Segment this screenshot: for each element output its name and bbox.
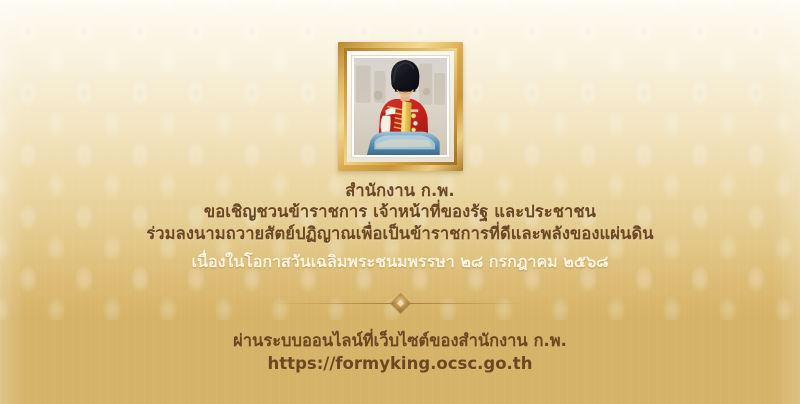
footer-block: ผ่านระบบออนไลน์ที่เว็บไซต์ของสำนักงาน ก.…	[0, 330, 800, 375]
message-line-1: สำนักงาน ก.พ.	[0, 180, 800, 201]
footer-line-1: ผ่านระบบออนไลน์ที่เว็บไซต์ของสำนักงาน ก.…	[0, 330, 800, 352]
ornament-divider	[275, 295, 525, 311]
royal-portrait	[338, 42, 463, 171]
diamond-gem-icon	[391, 294, 409, 312]
announcement-text-block: สำนักงาน ก.พ. ขอเชิญชวนข้าราชการ เจ้าหน้…	[0, 180, 800, 273]
website-url-link[interactable]: https://formyking.ocsc.go.th	[0, 352, 800, 375]
message-line-3: ร่วมลงนามถวายสัตย์ปฏิญาณเพื่อเป็นข้าราชก…	[0, 223, 800, 245]
divider-rule-right	[410, 303, 526, 304]
divider-rule-left	[275, 303, 391, 304]
message-date-line: เนื่องในโอกาสวันเฉลิมพระชนมพรรษา ๒๘ กรกฎ…	[0, 251, 800, 273]
message-line-2: ขอเชิญชวนข้าราชการ เจ้าหน้าที่ของรัฐ และ…	[0, 201, 800, 223]
ocsc-announcement-banner: สำนักงาน ก.พ. ขอเชิญชวนข้าราชการ เจ้าหน้…	[0, 0, 800, 404]
portrait-photo	[354, 58, 447, 155]
